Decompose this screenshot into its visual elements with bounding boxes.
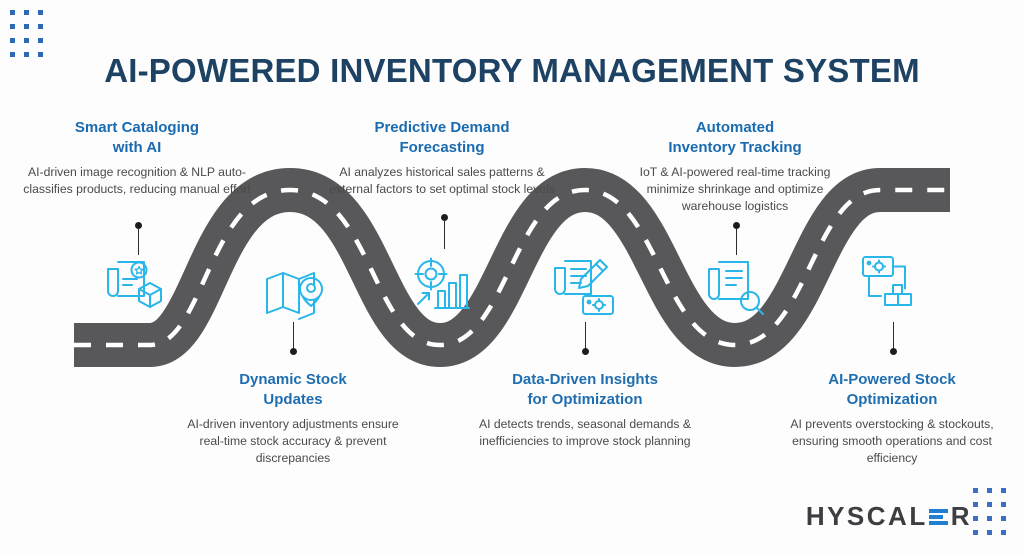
step-body: AI-driven inventory adjustments ensure r…	[178, 416, 408, 467]
step-ai-powered-stock-optimization: AI-Powered Stock Optimization AI prevent…	[777, 370, 1007, 467]
logo-text-after: R	[951, 501, 972, 532]
pin-stem	[893, 322, 895, 348]
step-heading-line2: Inventory Tracking	[668, 139, 801, 156]
step-heading: Smart Cataloging with AI	[22, 118, 252, 158]
connector-pin-dynamic-stock	[288, 322, 299, 355]
step-heading-line2: with AI	[113, 139, 162, 156]
decorative-dot-grid-bottom-right	[973, 488, 1006, 535]
step-heading-line2: Optimization	[847, 391, 938, 408]
step-heading-line1: Data-Driven Insights	[512, 371, 658, 388]
gear-card-boxes-icon	[858, 252, 924, 314]
step-data-driven-insights: Data-Driven Insights for Optimization AI…	[470, 370, 700, 450]
step-heading-line1: Automated	[696, 119, 774, 136]
pin-knob	[582, 348, 589, 355]
logo-wordmark: HYSCAL R	[806, 501, 972, 532]
document-star-box-icon	[103, 253, 169, 315]
connector-pin-smart-cataloging	[133, 222, 144, 255]
pin-knob	[135, 222, 142, 229]
step-body: IoT & AI-powered real-time tracking mini…	[620, 164, 850, 215]
step-body: AI analyzes historical sales patterns & …	[327, 164, 557, 198]
hyscaler-logo: HYSCAL R	[806, 499, 972, 533]
step-smart-cataloging: Smart Cataloging with AI AI-driven image…	[22, 118, 252, 198]
pin-stem	[585, 322, 587, 348]
pin-stem	[736, 229, 738, 255]
map-location-pin-icon	[261, 262, 327, 324]
step-dynamic-stock-updates: Dynamic Stock Updates AI-driven inventor…	[178, 370, 408, 467]
step-heading: Predictive Demand Forecasting	[327, 118, 557, 158]
pin-stem	[138, 229, 140, 255]
step-heading: Automated Inventory Tracking	[620, 118, 850, 158]
document-magnifier-icon	[705, 256, 771, 318]
pin-knob	[290, 348, 297, 355]
pin-knob	[733, 222, 740, 229]
step-heading-line2: for Optimization	[528, 391, 643, 408]
target-bar-chart-icon	[409, 255, 475, 317]
step-heading-line1: Smart Cataloging	[75, 119, 199, 136]
connector-pin-stock-optimization	[888, 322, 899, 355]
connector-pin-predictive-demand	[439, 214, 450, 249]
step-heading-line2: Updates	[263, 391, 322, 408]
step-heading-line1: AI-Powered Stock	[828, 371, 956, 388]
step-body: AI prevents overstocking & stockouts, en…	[777, 416, 1007, 467]
pin-knob	[441, 214, 448, 221]
step-heading-line2: Forecasting	[399, 139, 484, 156]
decorative-dot-grid-top-left	[10, 10, 43, 57]
step-heading: Dynamic Stock Updates	[178, 370, 408, 410]
pin-stem	[293, 322, 295, 348]
step-automated-inventory-tracking: Automated Inventory Tracking IoT & AI-po…	[620, 118, 850, 215]
pin-stem	[444, 221, 446, 249]
step-heading: AI-Powered Stock Optimization	[777, 370, 1007, 410]
step-body: AI detects trends, seasonal demands & in…	[470, 416, 700, 450]
logo-text-before: HYSCAL	[806, 501, 928, 532]
step-predictive-demand-forecasting: Predictive Demand Forecasting AI analyze…	[327, 118, 557, 198]
pin-knob	[890, 348, 897, 355]
connector-pin-data-driven-insights	[580, 322, 591, 355]
document-pencil-gear-card-icon	[553, 256, 619, 318]
step-heading: Data-Driven Insights for Optimization	[470, 370, 700, 410]
step-heading-line1: Dynamic Stock	[239, 371, 347, 388]
page-title: AI-POWERED INVENTORY MANAGEMENT SYSTEM	[0, 52, 1024, 90]
connector-pin-automated-tracking	[731, 222, 742, 255]
logo-e-bars-icon	[929, 509, 948, 524]
step-body: AI-driven image recognition & NLP auto-c…	[22, 164, 252, 198]
infographic-canvas: AI-POWERED INVENTORY MANAGEMENT SYSTEM S…	[0, 0, 1024, 555]
step-heading-line1: Predictive Demand	[374, 119, 509, 136]
